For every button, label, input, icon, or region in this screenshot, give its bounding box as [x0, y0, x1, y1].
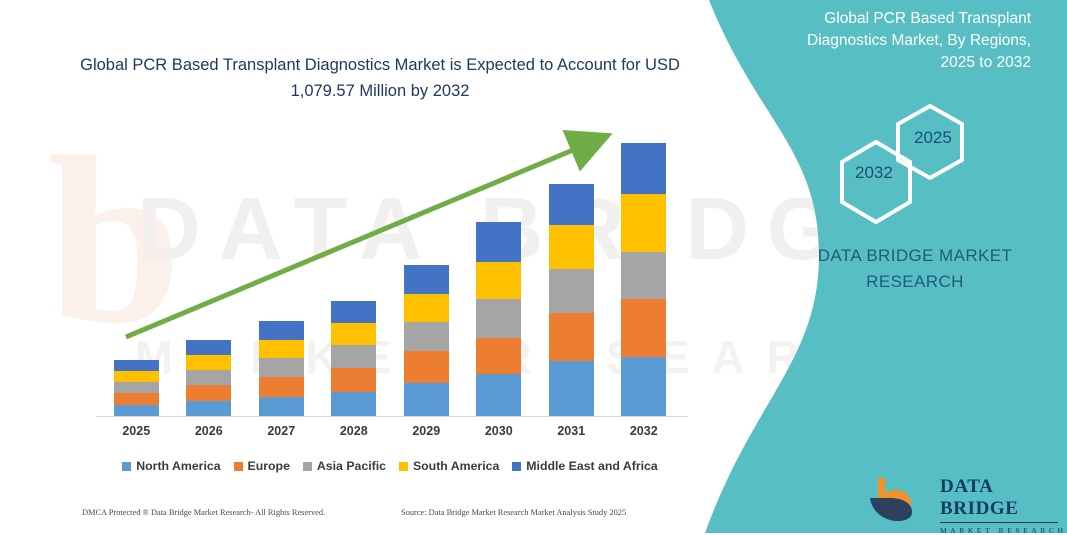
logo-tagline: MARKET RESEARCH — [940, 526, 1067, 535]
hexagon-label-2032: 2032 — [855, 163, 893, 183]
panel-brand-name: DATA BRIDGE MARKET RESEARCH — [780, 243, 1050, 295]
panel-brand-line-1: DATA BRIDGE MARKET — [780, 243, 1050, 269]
panel-heading: Global PCR Based Transplant Diagnostics … — [781, 8, 1031, 74]
logo-divider — [940, 522, 1058, 523]
hexagon-label-2025: 2025 — [914, 128, 952, 148]
panel-brand-line-2: RESEARCH — [780, 269, 1050, 295]
logo-text-block: DATA BRIDGE MARKET RESEARCH — [940, 476, 1067, 535]
logo-name: DATA BRIDGE — [940, 476, 1067, 520]
data-bridge-logo-icon — [868, 474, 934, 522]
